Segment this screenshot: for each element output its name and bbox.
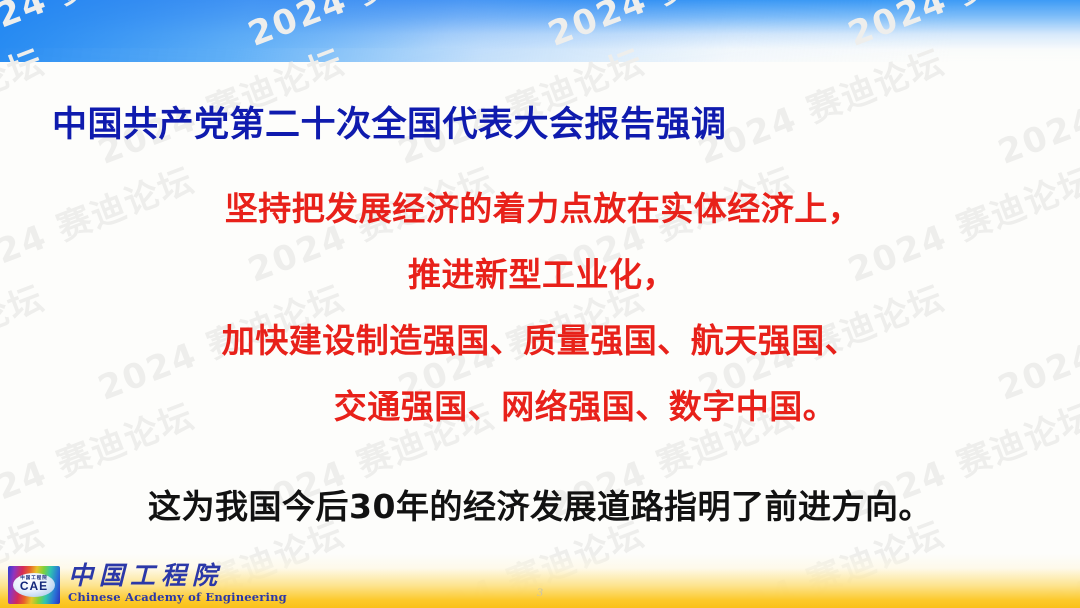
cae-emblem-label-abbr: CAE xyxy=(20,579,48,593)
watermark-text: 2024 赛迪论坛 xyxy=(0,35,51,174)
watermark-text: 2024 赛迪论坛 xyxy=(990,35,1080,174)
watermark-text: 2024 赛迪论坛 xyxy=(0,0,201,56)
watermark-text: 2024 赛迪论坛 xyxy=(690,35,951,174)
conclusion-text: 这为我国今后30年的经济发展道路指明了前进方向。 xyxy=(0,480,1080,528)
body-line: 加快建设制造强国、质量强国、航天强国、 xyxy=(0,308,1080,374)
watermark-text: 2024 赛迪论坛 xyxy=(840,0,1080,56)
body-line: 坚持把发展经济的着力点放在实体经济上， xyxy=(0,176,1080,242)
cae-emblem-label: 中国工程院 CAE xyxy=(8,575,60,592)
body-line: 推进新型工业化， xyxy=(0,242,1080,308)
slide-canvas: 2024 赛迪论坛2024 赛迪论坛2024 赛迪论坛2024 赛迪论坛2024… xyxy=(0,0,1080,608)
page-title: 中国共产党第二十次全国代表大会报告强调 xyxy=(52,96,727,147)
page-number: 3 xyxy=(0,585,1080,600)
watermark-text: 2024 赛迪论坛 xyxy=(540,0,801,56)
body-text-block: 坚持把发展经济的着力点放在实体经济上， 推进新型工业化， 加快建设制造强国、质量… xyxy=(0,176,1080,440)
body-line: 交通强国、网络强国、数字中国。 xyxy=(0,374,1080,440)
watermark-text: 2024 赛迪论坛 xyxy=(240,0,501,56)
header-gradient-accent xyxy=(0,0,640,48)
header-gradient-band xyxy=(0,0,1080,62)
